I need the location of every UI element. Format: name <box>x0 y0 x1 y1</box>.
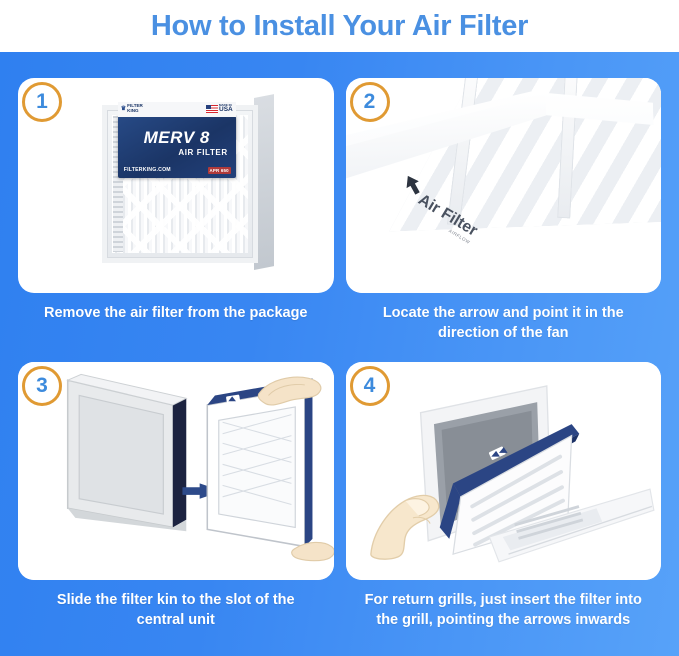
step-1-number-badge: 1 <box>22 82 62 122</box>
usa-text: MADE IN USA <box>219 104 233 114</box>
apr-rating: APR 650 <box>208 167 231 174</box>
filter-into-return-grill-illustration <box>346 362 662 580</box>
step-1: 1 ♛ <box>18 78 334 352</box>
step-1-card: 1 ♛ <box>18 78 334 293</box>
step-4-number-badge: 4 <box>350 366 390 406</box>
merv-label: MERV 8 AIR FILTER FILTERKING.COM APR 650 <box>118 116 236 178</box>
usa-flag-icon <box>206 105 218 113</box>
brand-website: FILTERKING.COM <box>124 167 171 173</box>
step-3: 3 <box>18 362 334 656</box>
step-3-number-badge: 3 <box>22 366 62 406</box>
filter-corner: Air Filter AIRFLOW <box>346 78 662 293</box>
merv-subtitle: AIR FILTER <box>118 148 228 157</box>
air-filter-panel <box>207 378 312 546</box>
brand-line-2: KING <box>127 109 143 114</box>
step-2: 2 Air Filter <box>346 78 662 352</box>
steps-grid: 1 ♛ <box>0 52 679 656</box>
central-unit <box>68 374 187 531</box>
steps-background: 1 ♛ <box>0 52 679 656</box>
step-1-image: ♛ FILTER KING MADE IN <box>18 78 334 293</box>
merv-rating: MERV 8 <box>118 128 236 148</box>
crown-icon: ♛ <box>121 106 126 112</box>
step-2-card: 2 Air Filter <box>346 78 662 293</box>
header: How to Install Your Air Filter <box>0 0 679 52</box>
step-2-caption: Locate the arrow and point it in the dir… <box>346 304 662 343</box>
infographic-page: How to Install Your Air Filter 1 <box>0 0 679 656</box>
step-2-image: Air Filter AIRFLOW <box>346 78 662 293</box>
made-in-usa-badge: MADE IN USA <box>206 104 233 114</box>
step-3-card: 3 <box>18 362 334 580</box>
brand-text: FILTER KING <box>127 104 143 113</box>
step-4-caption: For return grills, just insert the filte… <box>346 591 662 630</box>
usa-label: USA <box>219 107 233 114</box>
filter-king-logo: ♛ FILTER KING <box>121 104 143 113</box>
step-3-caption: Slide the filter kin to the slot of the … <box>18 591 334 630</box>
filter-label-header: ♛ FILTER KING MADE IN <box>118 102 236 117</box>
filter-into-unit-illustration <box>18 362 334 580</box>
merv-footer: FILTERKING.COM APR 650 <box>124 167 231 174</box>
step-4-image <box>346 362 662 580</box>
step-3-image <box>18 362 334 580</box>
step-4-card: 4 <box>346 362 662 580</box>
boxed-air-filter: ♛ FILTER KING MADE IN <box>102 98 274 270</box>
page-title: How to Install Your Air Filter <box>151 12 528 41</box>
step-4: 4 <box>346 362 662 656</box>
step-2-number-badge: 2 <box>350 82 390 122</box>
step-1-caption: Remove the air filter from the package <box>30 304 322 324</box>
